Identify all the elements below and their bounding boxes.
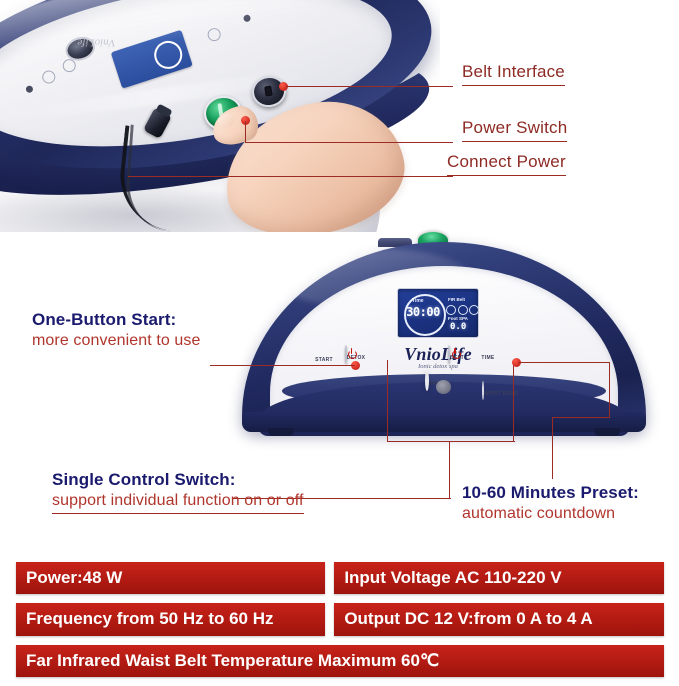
leader-line-belt-interface [286, 86, 453, 87]
callout-label-connect-power: Connect Power [447, 152, 566, 176]
feature-minutes-preset-title: 10-60 Minutes Preset: [462, 483, 639, 503]
detox-power-icon [345, 345, 347, 364]
leader-line-preset-v2 [552, 417, 553, 479]
deck-dot-1 [25, 85, 33, 93]
button-start-label: START [315, 357, 333, 363]
lcd-spa-label: Foot SPA [448, 316, 468, 321]
button-time[interactable]: TIME [468, 346, 508, 364]
socket-array[interactable]: ARRAY [416, 372, 456, 390]
control-unit-dome: Time 30:00 FIR Belt Foot SPA 0.0 VnioLif… [228, 232, 660, 437]
lcd-time-label: Time [412, 298, 424, 304]
callout-label-belt-interface: Belt Interface [462, 62, 565, 86]
spec-row-2: Frequency from 50 Hz to 60 Hz Output DC … [16, 603, 664, 635]
device-tagline: Ionic detox spa [378, 363, 498, 370]
leader-line-one-button-start [210, 365, 355, 366]
callout-label-power-switch: Power Switch [462, 118, 567, 142]
feature-minutes-preset-subtitle: automatic countdown [462, 505, 639, 523]
spec-row-3: Far Infrared Waist Belt Temperature Maxi… [16, 645, 664, 677]
infographic-page: VnioLife Belt Interface Power Switch Con… [0, 0, 679, 677]
belt-power-icon [448, 345, 450, 364]
feature-one-button-start-title: One-Button Start: [32, 310, 201, 330]
feature-minutes-preset: 10-60 Minutes Preset: automatic countdow… [462, 483, 639, 523]
dome-foot-left [268, 428, 294, 436]
dome-foot-right [594, 428, 620, 436]
leader-line-connect-power [128, 176, 453, 177]
spec-output: Output DC 12 V:from 0 A to 4 A [334, 603, 664, 635]
feature-single-control-switch-subtitle: support individual function on or off [52, 492, 304, 514]
lcd-belt-icon-high [469, 305, 479, 315]
button-time-label: TIME [481, 355, 494, 361]
lcd-belt-label: FIR Belt [448, 297, 465, 302]
lcd-belt-icon-low [446, 305, 456, 315]
spec-frequency: Frequency from 50 Hz to 60 Hz [16, 603, 325, 635]
leader-line-preset-v1 [609, 362, 610, 418]
spec-temperature: Far Infrared Waist Belt Temperature Maxi… [16, 645, 664, 677]
leader-line-switch-right-v [513, 360, 514, 442]
leader-line-power-switch-v [245, 121, 246, 143]
leader-line-switch-bracket [387, 441, 515, 442]
spec-input-voltage: Input Voltage AC 110-220 V [334, 562, 664, 594]
dome-base [242, 412, 646, 432]
leader-line-switch-stem [449, 441, 450, 499]
lcd-belt-icon-mid [458, 305, 468, 315]
deck-ring-icon-1 [41, 70, 56, 85]
feature-single-control-switch: Single Control Switch: support individua… [52, 470, 304, 514]
leader-line-power-switch-h [245, 142, 453, 143]
spec-row-1: Power:48 W Input Voltage AC 110-220 V [16, 562, 664, 594]
leader-line-preset-h [518, 362, 610, 363]
spec-power: Power:48 W [16, 562, 325, 594]
lcd-spa-value: 0.0 [450, 322, 466, 332]
leader-line-switch-left-v [387, 360, 388, 442]
lcd-time-value: 30:00 [405, 305, 441, 319]
feature-one-button-start: One-Button Start: more convenient to use [32, 310, 201, 350]
leader-line-preset-h2 [552, 417, 610, 418]
socket-wrist-band[interactable]: WRIST BAND [476, 382, 524, 400]
foot-spa-basin-photo: VnioLife [0, 0, 440, 232]
specification-table: Power:48 W Input Voltage AC 110-220 V Fr… [16, 562, 664, 686]
badge-ring-icon [151, 37, 186, 72]
lcd-belt-level-icons [446, 305, 479, 315]
array-socket-icon [425, 370, 429, 391]
lcd-display: Time 30:00 FIR Belt Foot SPA 0.0 [397, 288, 479, 338]
feature-single-control-switch-title: Single Control Switch: [52, 470, 304, 490]
feature-one-button-start-subtitle: more convenient to use [32, 332, 201, 350]
